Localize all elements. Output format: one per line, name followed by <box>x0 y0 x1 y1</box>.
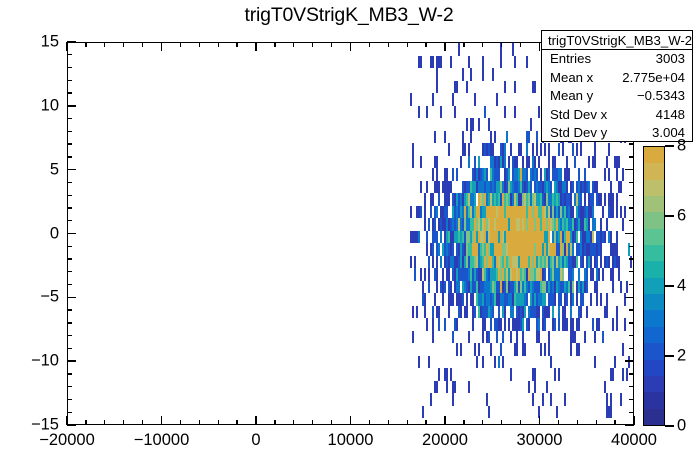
histogram-bin <box>468 268 470 281</box>
histogram-bin <box>414 231 416 244</box>
histogram-bin <box>498 281 500 294</box>
histogram-bin <box>474 256 476 269</box>
histogram-bin <box>462 293 464 306</box>
histogram-bin <box>452 231 454 244</box>
histogram-bin <box>484 293 486 306</box>
histogram-bin <box>506 268 508 281</box>
histogram-bin <box>458 293 460 306</box>
axis-tick <box>629 386 634 387</box>
histogram-bin <box>524 306 526 319</box>
histogram-bin <box>420 156 422 169</box>
x-axis-tick-label: 0 <box>251 431 260 450</box>
histogram-bin <box>490 181 492 194</box>
histogram-bin <box>492 181 494 194</box>
histogram-bin <box>542 243 544 256</box>
histogram-bin <box>538 318 540 331</box>
statistics-value: 4148 <box>656 106 685 125</box>
histogram-bin <box>492 218 494 231</box>
histogram-bin <box>568 193 570 206</box>
histogram-bin <box>542 181 544 194</box>
histogram-bin <box>514 81 516 94</box>
histogram-bin <box>472 306 474 319</box>
histogram-bin <box>578 318 580 331</box>
histogram-bin <box>480 293 482 306</box>
axis-tick <box>274 42 275 47</box>
histogram-bin <box>578 343 580 356</box>
histogram-bin <box>490 318 492 331</box>
histogram-bin <box>454 268 456 281</box>
histogram-bin <box>608 256 610 269</box>
histogram-bin <box>460 293 462 306</box>
histogram-bin <box>446 193 448 206</box>
histogram-bin <box>536 218 538 231</box>
histogram-bin <box>466 206 468 219</box>
histogram-bin <box>502 331 504 344</box>
histogram-bin <box>594 356 596 369</box>
histogram-bin <box>618 268 620 281</box>
statistics-value: −0.5343 <box>637 87 685 106</box>
histogram-bin <box>484 181 486 194</box>
statistics-box-title: trigT0VStrigK_MB3_W-2 <box>542 31 692 50</box>
axis-tick <box>67 92 72 93</box>
histogram-bin <box>450 281 452 294</box>
histogram-bin <box>526 56 528 69</box>
histogram-bin <box>436 268 438 281</box>
histogram-bin <box>468 206 470 219</box>
histogram-bin <box>574 331 576 344</box>
histogram-bin <box>566 218 568 231</box>
histogram-bin <box>442 293 444 306</box>
histogram-bin <box>500 56 502 69</box>
histogram-bin <box>612 256 614 269</box>
y-axis-tick-label: 5 <box>15 160 59 179</box>
axis-tick <box>629 271 634 272</box>
statistics-key: Mean x <box>550 69 593 88</box>
histogram-bin <box>548 218 550 231</box>
histogram-bin <box>538 281 540 294</box>
histogram-bin <box>508 231 510 244</box>
histogram-bin <box>544 318 546 331</box>
histogram-bin <box>606 293 608 306</box>
histogram-bin <box>518 181 520 194</box>
histogram-bin <box>504 106 506 119</box>
histogram-bin <box>452 331 454 344</box>
histogram-bin <box>436 281 438 294</box>
histogram-bin <box>502 356 504 369</box>
histogram-bin <box>424 293 426 306</box>
axis-tick <box>331 420 332 425</box>
histogram-bin <box>464 268 466 281</box>
histogram-bin <box>436 306 438 319</box>
histogram-bin <box>554 218 556 231</box>
histogram-bin <box>544 256 546 269</box>
histogram-bin <box>450 243 452 256</box>
histogram-bin <box>510 181 512 194</box>
histogram-bin <box>598 318 600 331</box>
histogram-bin <box>474 193 476 206</box>
histogram-bin <box>552 231 554 244</box>
histogram-bin <box>448 268 450 281</box>
histogram-bin <box>518 256 520 269</box>
color-scale-label: 6 <box>677 207 686 226</box>
histogram-bin <box>520 256 522 269</box>
axis-tick <box>255 42 256 51</box>
histogram-bin <box>540 193 542 206</box>
histogram-bin <box>608 143 610 156</box>
histogram-bin <box>548 331 550 344</box>
histogram-bin <box>468 281 470 294</box>
histogram-bin <box>600 218 602 231</box>
histogram-bin <box>508 318 510 331</box>
histogram-bin <box>504 143 506 156</box>
histogram-bin <box>518 318 520 331</box>
histogram-bin <box>514 318 516 331</box>
axis-tick <box>67 399 72 400</box>
histogram-bin <box>478 243 480 256</box>
axis-tick <box>558 420 559 425</box>
histogram-bin <box>554 368 556 381</box>
histogram-bin <box>546 181 548 194</box>
axis-tick <box>539 416 540 425</box>
histogram-bin <box>494 156 496 169</box>
axis-tick <box>67 297 76 298</box>
histogram-bin <box>532 193 534 206</box>
histogram-bin <box>512 168 514 181</box>
histogram-bin <box>620 206 622 219</box>
histogram-bin <box>564 306 566 319</box>
histogram-bin <box>484 168 486 181</box>
histogram-bin <box>412 156 414 169</box>
histogram-bin <box>512 231 514 244</box>
histogram-bin <box>486 256 488 269</box>
histogram-bin <box>596 293 598 306</box>
color-scale-label: 4 <box>677 277 686 296</box>
histogram-bin <box>546 306 548 319</box>
y-axis-tick-label: −5 <box>15 288 59 307</box>
color-scale-label: 2 <box>677 347 686 366</box>
histogram-bin <box>462 143 464 156</box>
histogram-bin <box>514 106 516 119</box>
histogram-bin <box>516 306 518 319</box>
histogram-bin <box>576 231 578 244</box>
histogram-bin <box>558 318 560 331</box>
histogram-bin <box>458 268 460 281</box>
axis-tick <box>482 420 483 425</box>
histogram-bin <box>452 193 454 206</box>
histogram-bin <box>594 156 596 169</box>
histogram-bin <box>500 256 502 269</box>
histogram-bin <box>480 206 482 219</box>
histogram-bin <box>612 193 614 206</box>
histogram-bin <box>588 206 590 219</box>
histogram-bin <box>572 231 574 244</box>
histogram-bin <box>418 231 420 244</box>
histogram-bin <box>496 181 498 194</box>
histogram-bin <box>520 193 522 206</box>
axis-tick <box>501 420 502 425</box>
histogram-bin <box>456 231 458 244</box>
y-axis-tick-label: −15 <box>15 416 59 435</box>
axis-tick <box>67 309 72 310</box>
histogram-bin <box>540 281 542 294</box>
histogram-bin <box>586 256 588 269</box>
histogram-bin <box>498 168 500 181</box>
histogram-bin <box>558 181 560 194</box>
histogram-bin <box>528 381 530 394</box>
color-scale-band <box>644 212 664 228</box>
histogram-bin <box>444 218 446 231</box>
histogram-bin <box>624 206 626 219</box>
histogram-bin <box>616 193 618 206</box>
histogram-bin <box>610 181 612 194</box>
color-scale-band <box>644 196 664 212</box>
histogram-bin <box>510 143 512 156</box>
axis-tick <box>199 420 200 425</box>
axis-tick <box>274 420 275 425</box>
histogram-bin <box>590 293 592 306</box>
histogram-bin <box>434 131 436 144</box>
histogram-bin <box>528 218 530 231</box>
histogram-bin <box>516 193 518 206</box>
histogram-bin <box>452 293 454 306</box>
histogram-bin <box>486 331 488 344</box>
histogram-bin <box>442 268 444 281</box>
histogram-bin <box>498 306 500 319</box>
color-scale-band <box>644 229 664 245</box>
axis-tick <box>407 420 408 425</box>
histogram-bin <box>522 281 524 294</box>
histogram-bin <box>550 243 552 256</box>
histogram-bin <box>462 206 464 219</box>
histogram-bin <box>468 156 470 169</box>
histogram-bin <box>564 256 566 269</box>
axis-tick <box>629 220 634 221</box>
histogram-bin <box>478 118 480 131</box>
histogram-bin <box>610 393 612 406</box>
histogram-bin <box>508 281 510 294</box>
histogram-bin <box>458 306 460 319</box>
axis-tick <box>482 42 483 47</box>
histogram-bin <box>436 206 438 219</box>
axis-tick <box>629 258 634 259</box>
axis-tick <box>425 420 426 425</box>
histogram-bin <box>508 218 510 231</box>
histogram-bin <box>564 243 566 256</box>
histogram-bin <box>458 206 460 219</box>
histogram-bin <box>548 231 550 244</box>
histogram-bin <box>586 218 588 231</box>
histogram-bin <box>474 343 476 356</box>
histogram-bin <box>532 256 534 269</box>
histogram-bin <box>434 181 436 194</box>
histogram-bin <box>616 206 618 219</box>
color-scale-label: 0 <box>677 417 686 436</box>
histogram-bin <box>542 393 544 406</box>
histogram-bin <box>528 231 530 244</box>
histogram-bin <box>462 131 464 144</box>
histogram-bin <box>480 268 482 281</box>
histogram-bin <box>460 343 462 356</box>
histogram-bin <box>554 281 556 294</box>
histogram-bin <box>564 206 566 219</box>
histogram-bin <box>622 218 624 231</box>
axis-tick <box>629 348 634 349</box>
histogram-bin <box>472 193 474 206</box>
color-scale-band <box>644 409 664 425</box>
histogram-bin <box>596 281 598 294</box>
histogram-bin <box>606 393 608 406</box>
histogram-bin <box>610 206 612 219</box>
histogram-bin <box>436 231 438 244</box>
histogram-bin <box>558 281 560 294</box>
histogram-bin <box>424 193 426 206</box>
histogram-bin <box>452 93 454 106</box>
histogram-bin <box>576 281 578 294</box>
histogram-bin <box>566 206 568 219</box>
histogram-bin <box>564 281 566 294</box>
histogram-bin <box>512 268 514 281</box>
histogram-bin <box>432 256 434 269</box>
histogram-bin <box>436 156 438 169</box>
histogram-bin <box>608 168 610 181</box>
histogram-bin <box>438 193 440 206</box>
histogram-bin <box>594 218 596 231</box>
histogram-bin <box>546 231 548 244</box>
histogram-bin <box>552 243 554 256</box>
histogram-bin <box>570 318 572 331</box>
histogram-bin <box>426 106 428 119</box>
histogram-bin <box>498 156 500 169</box>
histogram-bin <box>438 181 440 194</box>
histogram-bin <box>514 56 516 69</box>
histogram-bin <box>594 243 596 256</box>
histogram-bin <box>502 281 504 294</box>
page-title: trigT0VStrigK_MB3_W-2 <box>0 4 698 27</box>
axis-tick <box>629 309 634 310</box>
histogram-bin <box>410 256 412 269</box>
histogram-bin <box>606 218 608 231</box>
histogram-bin <box>492 68 494 81</box>
histogram-bin <box>430 206 432 219</box>
histogram-bin <box>532 218 534 231</box>
histogram-bin <box>518 218 520 231</box>
histogram-bin <box>558 368 560 381</box>
histogram-bin <box>550 393 552 406</box>
histogram-bin <box>570 293 572 306</box>
histogram-bin <box>414 256 416 269</box>
histogram-bin <box>454 106 456 119</box>
histogram-bin <box>604 168 606 181</box>
histogram-bin <box>432 56 434 69</box>
histogram-bin <box>492 281 494 294</box>
histogram-bin <box>526 293 528 306</box>
histogram-bin <box>510 331 512 344</box>
histogram-bin <box>534 381 536 394</box>
histogram-bin <box>474 206 476 219</box>
histogram-bin <box>562 268 564 281</box>
histogram-bin <box>428 218 430 231</box>
histogram-bin <box>540 168 542 181</box>
histogram-bin <box>464 218 466 231</box>
histogram-bin <box>602 331 604 344</box>
histogram-bin <box>504 268 506 281</box>
histogram-bin <box>486 231 488 244</box>
histogram-bin <box>486 143 488 156</box>
histogram-bin <box>572 243 574 256</box>
histogram-bin <box>436 56 438 69</box>
histogram-bin <box>486 206 488 219</box>
histogram-bin <box>618 181 620 194</box>
histogram-bin <box>484 218 486 231</box>
histogram-bin <box>488 118 490 131</box>
histogram-bin <box>518 168 520 181</box>
histogram-bin <box>554 318 556 331</box>
axis-tick <box>67 143 72 144</box>
histogram-bin <box>580 206 582 219</box>
histogram-bin <box>578 193 580 206</box>
x-axis-tick-label: 30000 <box>517 431 563 450</box>
histogram-bin <box>548 143 550 156</box>
histogram-bin <box>626 281 628 294</box>
histogram-bin <box>432 93 434 106</box>
color-scale-gradient <box>644 147 664 425</box>
histogram-bin <box>430 193 432 206</box>
histogram-bin <box>476 356 478 369</box>
histogram-bin <box>560 243 562 256</box>
histogram-bin <box>426 181 428 194</box>
histogram-bin <box>474 306 476 319</box>
histogram-bin <box>522 206 524 219</box>
axis-tick <box>67 373 72 374</box>
histogram-bin <box>440 106 442 119</box>
histogram-bin <box>604 256 606 269</box>
histogram-bin <box>590 243 592 256</box>
histogram-bin <box>614 356 616 369</box>
axis-tick <box>123 420 124 425</box>
histogram-bin <box>464 193 466 206</box>
histogram-bin <box>606 406 608 419</box>
histogram-bin <box>516 343 518 356</box>
color-scale-band <box>644 360 664 376</box>
histogram-bin <box>454 281 456 294</box>
histogram-bin <box>446 181 448 194</box>
histogram-bin <box>580 306 582 319</box>
histogram-bin <box>446 268 448 281</box>
axis-tick <box>629 207 634 208</box>
axis-tick <box>67 284 72 285</box>
histogram-bin <box>428 256 430 269</box>
statistics-box[interactable]: trigT0VStrigK_MB3_W-2 Entries3003Mean x2… <box>541 30 693 142</box>
histogram-bin <box>610 193 612 206</box>
axis-tick <box>625 424 634 425</box>
histogram-bin <box>610 268 612 281</box>
histogram-bin <box>554 268 556 281</box>
histogram-bin <box>538 268 540 281</box>
histogram-bin <box>472 218 474 231</box>
axis-tick <box>293 42 294 47</box>
histogram-bin <box>592 206 594 219</box>
histogram-bin <box>558 168 560 181</box>
histogram-bin <box>484 243 486 256</box>
histogram-bin <box>470 118 472 131</box>
histogram-bin <box>512 293 514 306</box>
histogram-bin <box>458 256 460 269</box>
histogram-bin <box>498 231 500 244</box>
histogram-bin <box>554 193 556 206</box>
histogram-bin <box>498 218 500 231</box>
histogram-bin <box>512 43 514 56</box>
histogram-bin <box>542 268 544 281</box>
